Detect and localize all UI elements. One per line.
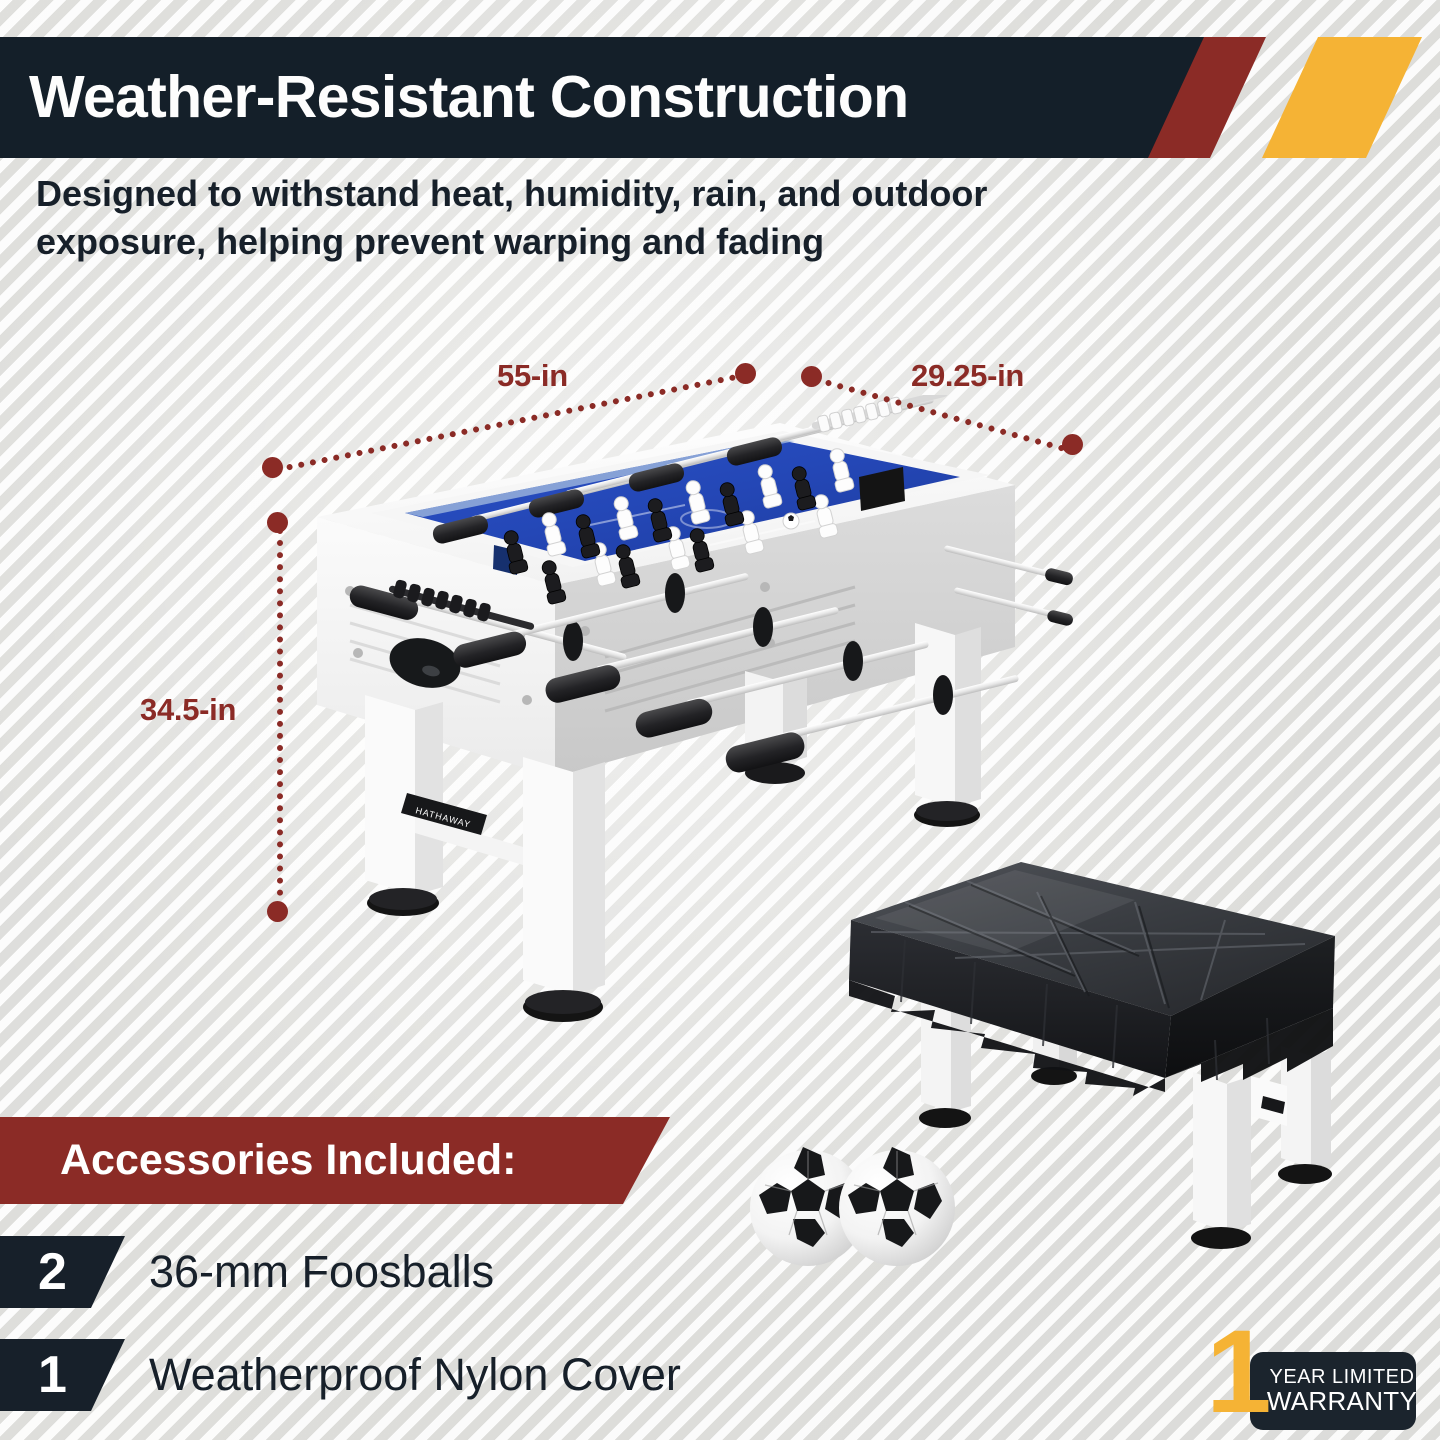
warranty-box: YEAR LIMITED WARRANTY: [1250, 1352, 1416, 1430]
header-banner: Weather-Resistant Construction: [0, 37, 1205, 158]
accessory-count-badge: 2: [0, 1236, 125, 1308]
accessory-label: 36-mm Foosballs: [149, 1246, 494, 1298]
warranty-badge: YEAR LIMITED WARRANTY 1: [1206, 1318, 1416, 1430]
warranty-line-1: YEAR LIMITED: [1270, 1367, 1415, 1388]
dimension-endpoint-length-right: [735, 363, 756, 384]
dimension-label-length: 55-in: [497, 358, 568, 394]
warranty-number: 1: [1206, 1318, 1272, 1427]
accessory-label: Weatherproof Nylon Cover: [149, 1349, 681, 1401]
foosball-right: [839, 1147, 955, 1266]
warranty-line-2: WARRANTY: [1267, 1388, 1417, 1415]
accessory-item-cover: 1 Weatherproof Nylon Cover: [0, 1339, 681, 1411]
dimension-leader-height: [277, 528, 283, 908]
accessory-count-badge: 1: [0, 1339, 125, 1411]
dimension-endpoint-width-right: [1062, 434, 1083, 455]
dimension-endpoint-height-bottom: [267, 901, 288, 922]
dimension-label-height: 34.5-in: [140, 692, 236, 728]
foosballs-image: [745, 1135, 960, 1275]
page-title: Weather-Resistant Construction: [29, 68, 908, 127]
dimension-endpoint-width-left: [801, 366, 822, 387]
accessories-banner: Accessories Included:: [0, 1117, 670, 1204]
dimension-endpoint-height-top: [267, 512, 288, 533]
dimension-label-width: 29.25-in: [911, 358, 1024, 394]
dimension-endpoint-length-left: [262, 457, 283, 478]
accessories-title: Accessories Included:: [60, 1136, 516, 1185]
accessory-item-foosballs: 2 36-mm Foosballs: [0, 1236, 494, 1308]
page-subtitle: Designed to withstand heat, humidity, ra…: [36, 170, 1156, 265]
